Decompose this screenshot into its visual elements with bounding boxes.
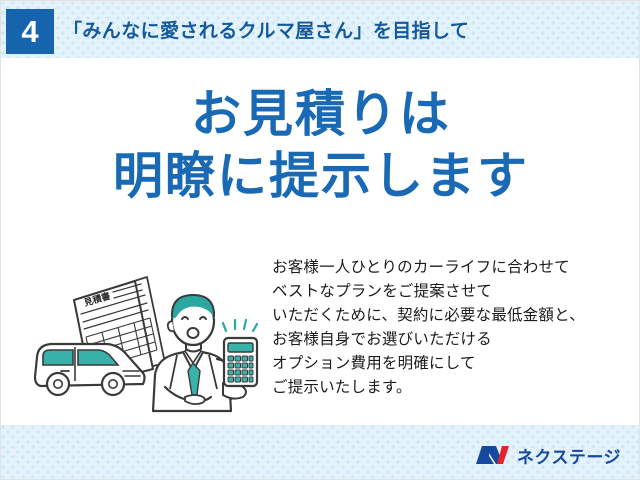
headline-line-2: 明瞭に提示します [1,145,640,207]
brand-name: ネクステージ [517,443,621,468]
body-copy: お客様一人ひとりのカーライフに合わせて ベストなプランをご提案させて いただくた… [272,256,637,400]
calculator-icon [223,320,257,386]
illustration-salesman-estimate-van: 見積書 [25,259,273,419]
headline-line-1: お見積りは [1,83,640,145]
header-title: 「みんなに愛されるクルマ屋さん」を目指して [63,16,469,43]
headline: お見積りは 明瞭に提示します [1,83,640,207]
promo-slide: 4 「みんなに愛されるクルマ屋さん」を目指して お見積りは 明瞭に提示します お… [0,0,640,480]
step-number-badge: 4 [6,9,54,54]
body-line-2: ベストなプランをご提案させて [272,280,637,304]
body-line-3: いただくために、契約に必要な最低金額と、 [272,304,637,328]
body-line-5: オプション費用を明確にして [272,352,637,376]
body-line-1: お客様一人ひとりのカーライフに合わせて [272,256,637,280]
nextage-n-logo-icon [476,443,510,467]
body-line-4: お客様自身でお選びいただける [272,328,637,352]
body-line-6: ご提示いたします。 [272,376,637,400]
brand-logo: ネクステージ [476,441,621,469]
